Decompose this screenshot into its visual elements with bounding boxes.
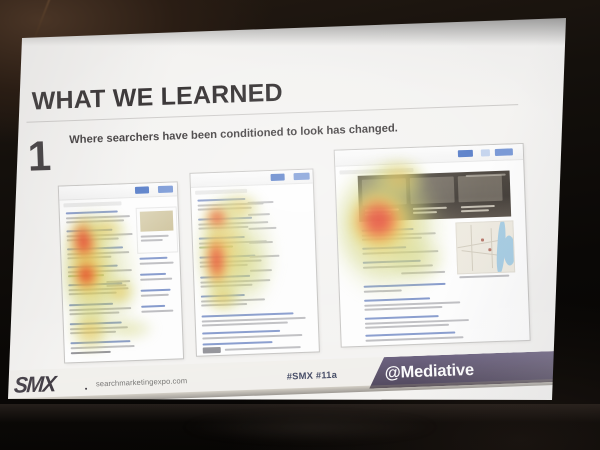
smx-logo: SMX bbox=[13, 372, 56, 399]
search-field-blur bbox=[195, 189, 247, 195]
slide-subtitle: Where searchers have been conditioned to… bbox=[69, 122, 398, 146]
panel-thumbnail bbox=[140, 211, 174, 232]
smx-logo-trademark-dot bbox=[85, 388, 87, 390]
point-number: 1 bbox=[27, 135, 52, 178]
signin-chip-icon bbox=[458, 150, 473, 158]
apps-chip-icon bbox=[481, 149, 490, 156]
screenshot-serp-heatmap-blob bbox=[335, 144, 530, 347]
slide-content: WHAT WE LEARNED 1 Where searchers have b… bbox=[0, 0, 600, 450]
signin-chip-icon bbox=[135, 186, 149, 193]
map-panel bbox=[455, 220, 515, 274]
projection-screen: WHAT WE LEARNED 1 Where searchers have b… bbox=[0, 0, 600, 450]
account-chip-icon bbox=[158, 186, 173, 194]
account-chip-icon bbox=[294, 173, 310, 181]
footer-hashtag: #SMX #11a bbox=[287, 369, 338, 382]
footer-handle: @Mediative bbox=[384, 361, 474, 383]
screenshot-serp-heatmap-vertical bbox=[190, 170, 318, 356]
image-carousel-banner bbox=[358, 170, 512, 221]
signin-chip-icon bbox=[271, 174, 285, 181]
page-title: WHAT WE LEARNED bbox=[32, 79, 283, 117]
search-field-blur bbox=[63, 201, 121, 207]
knowledge-panel bbox=[136, 206, 179, 253]
presentation-photo: WHAT WE LEARNED 1 Where searchers have b… bbox=[0, 0, 600, 450]
slide-surface: WHAT WE LEARNED 1 Where searchers have b… bbox=[0, 0, 600, 450]
foreground-highlight bbox=[180, 412, 440, 442]
account-chip-icon bbox=[495, 148, 513, 156]
screenshot-serp-heatmap-classic bbox=[59, 182, 183, 362]
